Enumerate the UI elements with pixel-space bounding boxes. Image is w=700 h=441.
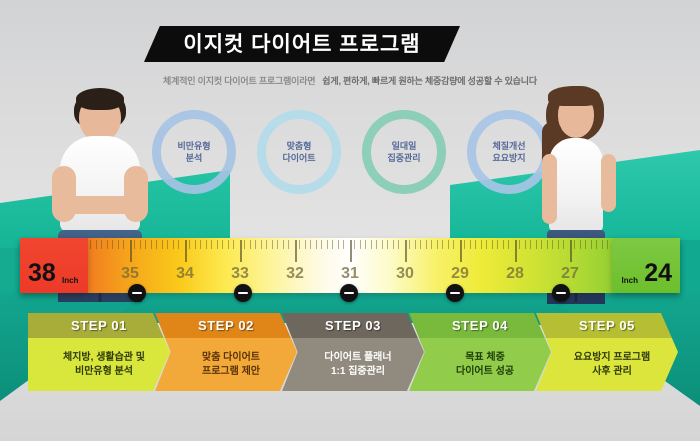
ruler-tick-major	[295, 240, 297, 262]
feature-circle-label-line1: 맞춤형	[287, 140, 312, 152]
ruler-tick-minor	[233, 240, 234, 249]
step-desc-line2: 1:1 집중관리	[331, 365, 385, 379]
ruler-tick-minor	[607, 240, 608, 249]
ruler-tick-minor	[525, 240, 526, 249]
ruler-tick-minor	[415, 240, 416, 249]
ruler-progress-marker	[552, 284, 570, 302]
ruler-tick-label: 30	[396, 266, 414, 282]
ruler-tick-label: 32	[286, 266, 304, 282]
ruler-start-badge: 38 Inch	[20, 238, 88, 293]
ruler-tick-minor	[112, 240, 113, 249]
ruler-progress-marker	[128, 284, 146, 302]
ruler-tick-minor	[541, 240, 542, 249]
ruler-tick-minor	[206, 240, 207, 249]
step-arrow-group: STEP 01체지방, 생활습관 및비만유형 분석STEP 02맞춤 다이어트프…	[28, 313, 676, 393]
ruler-tick-minor	[299, 240, 300, 249]
ruler-progress-marker	[234, 284, 252, 302]
ruler-tick-minor	[448, 240, 449, 249]
ruler-tick-minor	[387, 240, 388, 249]
ruler-tick-minor	[222, 240, 223, 249]
step-body: 체지방, 생활습관 및비만유형 분석	[28, 338, 170, 391]
step-label: STEP 02	[198, 318, 254, 333]
infographic-poster: 이지컷 다이어트 프로그램 체계적인 이지컷 다이어트 프로그램이라면 쉽게, …	[0, 0, 700, 441]
ruler-tick-minor	[101, 240, 102, 249]
subtitle-part-1: 체계적인 이지컷 다이어트 프로그램이라면	[163, 76, 315, 86]
ruler-tick-minor	[536, 240, 537, 249]
subtitle-part-2: 쉽게, 편하게, 빠르게 원하는 체중감량에 성공할 수 있습니다	[322, 76, 537, 86]
ruler-tick-minor	[453, 240, 454, 249]
ruler-tick-major	[185, 240, 187, 262]
ruler-end-badge: 24 Inch	[612, 238, 680, 293]
step-desc-line1: 체지방, 생활습관 및	[63, 351, 145, 365]
ruler-tick-minor	[492, 240, 493, 249]
ruler-tick-minor	[338, 240, 339, 249]
ruler-tick-minor	[360, 240, 361, 249]
step-card-2[interactable]: STEP 02맞춤 다이어트프로그램 제안	[155, 313, 297, 391]
ruler-tick-minor	[585, 240, 586, 249]
ruler-tick-minor	[244, 240, 245, 249]
ruler-tick-minor	[156, 240, 157, 249]
ruler-progress-marker	[446, 284, 464, 302]
step-desc-line2: 프로그램 제안	[202, 365, 260, 379]
ruler-tick-minor	[217, 240, 218, 249]
ruler-end-value: 24	[644, 261, 672, 286]
ruler-tick-minor	[497, 240, 498, 249]
ruler-tick-major	[350, 240, 352, 262]
step-body: 다이어트 플래너1:1 집중관리	[282, 338, 424, 391]
step-body: 요요방지 프로그램사후 관리	[536, 338, 678, 391]
ruler-tick-minor	[437, 240, 438, 249]
ruler-tick-minor	[107, 240, 108, 249]
ruler-tick-minor	[90, 240, 91, 249]
ruler-tick-minor	[211, 240, 212, 249]
ruler-tick-minor	[486, 240, 487, 249]
ruler-tick-label: 34	[176, 266, 194, 282]
ruler-tick-minor	[288, 240, 289, 249]
ruler-tick-minor	[134, 240, 135, 249]
ruler-end-unit: Inch	[622, 276, 638, 285]
ruler-tick-minor	[591, 240, 592, 249]
step-header: STEP 03	[282, 313, 424, 338]
ruler-tick-minor	[332, 240, 333, 249]
ruler-tick-minor	[558, 240, 559, 249]
ruler-tick-minor	[431, 240, 432, 249]
ruler-tick-minor	[420, 240, 421, 249]
step-label: STEP 03	[325, 318, 381, 333]
ruler-tick-major	[515, 240, 517, 262]
ruler-tick-minor	[167, 240, 168, 249]
ruler-tick-major	[405, 240, 407, 262]
step-card-5[interactable]: STEP 05요요방지 프로그램사후 관리	[536, 313, 678, 391]
ruler-progress-marker	[340, 284, 358, 302]
ruler-tick-minor	[272, 240, 273, 249]
ruler-tick-minor	[503, 240, 504, 249]
ruler-tick-label: 27	[561, 266, 579, 282]
ruler-tick-minor	[563, 240, 564, 249]
feature-circle-label-line1: 비만유형	[177, 140, 210, 152]
ruler-tick-major	[130, 240, 132, 262]
ruler-tick-minor	[200, 240, 201, 249]
minus-icon	[132, 292, 142, 295]
feature-circle-label-line2: 집중관리	[387, 152, 420, 164]
ruler-tick-minor	[547, 240, 548, 249]
ruler-tick-minor	[195, 240, 196, 249]
step-desc-line1: 다이어트 플래너	[324, 351, 391, 365]
ruler-tick-minor	[371, 240, 372, 249]
ruler-tick-minor	[574, 240, 575, 249]
ruler-tick-minor	[552, 240, 553, 249]
step-body: 맞춤 다이어트프로그램 제안	[155, 338, 297, 391]
minus-icon	[556, 292, 566, 295]
ruler-tick-minor	[470, 240, 471, 249]
step-header: STEP 01	[28, 313, 170, 338]
step-desc-line1: 목표 체중	[465, 351, 505, 365]
ruler-tick-minor	[580, 240, 581, 249]
ruler-tick-minor	[481, 240, 482, 249]
feature-circle-2: 맞춤형다이어트	[257, 110, 341, 194]
step-card-3[interactable]: STEP 03다이어트 플래너1:1 집중관리	[282, 313, 424, 391]
ruler-tick-minor	[376, 240, 377, 249]
step-desc-line1: 맞춤 다이어트	[202, 351, 260, 365]
ruler-tick-minor	[475, 240, 476, 249]
ruler-tick-label: 35	[121, 266, 139, 282]
step-header: STEP 02	[155, 313, 297, 338]
ruler-tick-minor	[178, 240, 179, 249]
feature-circle-label-line2: 다이어트	[282, 152, 315, 164]
ruler-tick-minor	[316, 240, 317, 249]
step-label: STEP 04	[452, 318, 508, 333]
ruler-tick-minor	[519, 240, 520, 249]
minus-icon	[344, 292, 354, 295]
ruler-tick-label: 33	[231, 266, 249, 282]
feature-circle-label-line1: 일대일	[392, 140, 417, 152]
step-desc-line2: 비만유형 분석	[75, 365, 133, 379]
ruler-tick-minor	[145, 240, 146, 249]
ruler-tick-minor	[151, 240, 152, 249]
minus-icon	[450, 292, 460, 295]
minus-icon	[238, 292, 248, 295]
ruler-start-unit: Inch	[62, 276, 78, 285]
ruler-start-value: 38	[28, 261, 56, 286]
step-desc-line1: 요요방지 프로그램	[574, 351, 650, 365]
feature-circle-3: 일대일집중관리	[362, 110, 446, 194]
step-header: STEP 04	[409, 313, 551, 338]
ruler-tick-minor	[398, 240, 399, 249]
ruler-tick-minor	[250, 240, 251, 249]
ruler-tick-minor	[283, 240, 284, 249]
ruler-tick-minor	[321, 240, 322, 249]
feature-circle-group: 비만유형분석맞춤형다이어트일대일집중관리체질개선요요방지	[152, 110, 552, 194]
ruler-tick-minor	[189, 240, 190, 249]
step-label: STEP 05	[579, 318, 635, 333]
ruler-tick-major	[240, 240, 242, 262]
ruler-tick-major	[570, 240, 572, 262]
step-header: STEP 05	[536, 313, 678, 338]
ruler-tick-major	[460, 240, 462, 262]
ruler-tick-minor	[596, 240, 597, 249]
ruler-tick-minor	[261, 240, 262, 249]
ruler-tick-minor	[96, 240, 97, 249]
step-card-4[interactable]: STEP 04목표 체중다이어트 성공	[409, 313, 551, 391]
ruler-tick-minor	[162, 240, 163, 249]
ruler-tick-minor	[140, 240, 141, 249]
ruler-tick-minor	[393, 240, 394, 249]
ruler-tick-label: 31	[341, 266, 359, 282]
ruler-tick-minor	[343, 240, 344, 249]
step-card-1[interactable]: STEP 01체지방, 생활습관 및비만유형 분석	[28, 313, 170, 391]
ruler-tick-minor	[382, 240, 383, 249]
ruler-tick-minor	[508, 240, 509, 249]
ruler-tick-minor	[305, 240, 306, 249]
ruler-tick-label: 28	[506, 266, 524, 282]
page-title: 이지컷 다이어트 프로그램	[183, 34, 420, 55]
step-body: 목표 체중다이어트 성공	[409, 338, 551, 391]
ruler-tick-minor	[464, 240, 465, 249]
ruler-tick-minor	[118, 240, 119, 249]
ruler-tick-minor	[255, 240, 256, 249]
ruler-tick-minor	[426, 240, 427, 249]
ruler-tick-minor	[266, 240, 267, 249]
title-banner: 이지컷 다이어트 프로그램	[144, 26, 460, 62]
step-desc-line2: 사후 관리	[592, 365, 632, 379]
ruler-tick-minor	[354, 240, 355, 249]
feature-circle-1: 비만유형분석	[152, 110, 236, 194]
step-label: STEP 01	[71, 318, 127, 333]
step-desc-line2: 다이어트 성공	[456, 365, 514, 379]
ruler-tick-label: 29	[451, 266, 469, 282]
ruler-tick-minor	[228, 240, 229, 249]
ruler-tick-minor	[442, 240, 443, 249]
ruler-tick-minor	[277, 240, 278, 249]
ruler-tick-minor	[310, 240, 311, 249]
ruler-tick-minor	[530, 240, 531, 249]
feature-circle-label-line2: 분석	[186, 152, 203, 164]
ruler-tick-minor	[409, 240, 410, 249]
ruler-tick-minor	[173, 240, 174, 249]
ruler-tick-minor	[327, 240, 328, 249]
ruler-tick-minor	[602, 240, 603, 249]
ruler-tick-minor	[365, 240, 366, 249]
ruler-tick-minor	[123, 240, 124, 249]
